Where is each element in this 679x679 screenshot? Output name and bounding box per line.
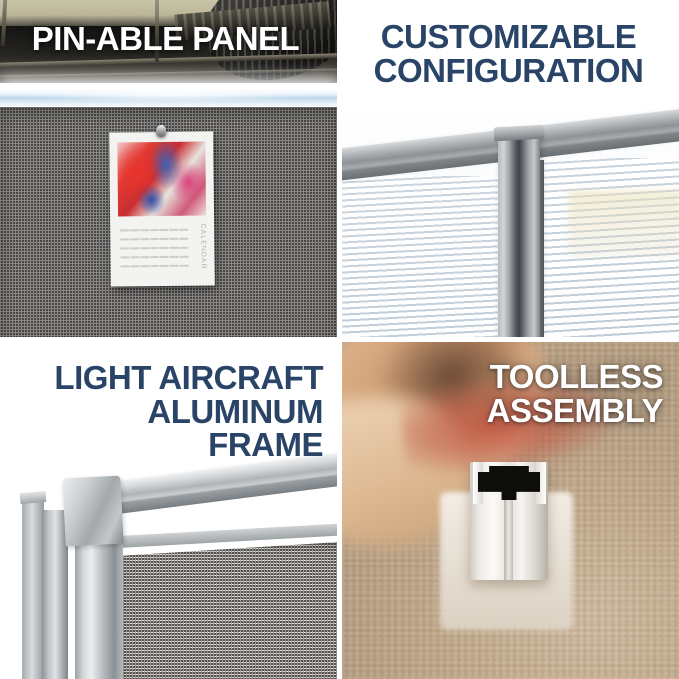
window-reflection [568, 190, 679, 258]
panel-light-aircraft-aluminum-frame: LIGHT AIRCRAFT ALUMINUM FRAME [0, 342, 337, 679]
post-cap [20, 491, 47, 504]
grey-fabric-panel [120, 542, 337, 679]
back-post [22, 498, 44, 679]
extrusion-web [504, 500, 513, 580]
vertical-connector-post [498, 132, 540, 337]
panel-heading-pin-able-panel: PIN-ABLE PANEL [0, 22, 331, 56]
feature-infographic: CALENDAR PIN-ABLE PANEL CUSTOMIZABLE CON… [0, 0, 679, 679]
fabric-tack-board: CALENDAR [0, 107, 337, 337]
middle-post [42, 510, 68, 679]
light-glow [20, 88, 317, 102]
main-post [75, 534, 123, 679]
panel-heading-light-aircraft-aluminum-frame: LIGHT AIRCRAFT ALUMINUM FRAME [10, 361, 323, 462]
calendar-artwork [117, 142, 206, 217]
post-cap [494, 125, 545, 142]
calendar-month-label: CALENDAR [194, 224, 207, 280]
panel-heading-toolless-assembly: TOOLLESS ASSEMBLY [362, 360, 663, 427]
panel-toolless-assembly: TOOLLESS ASSEMBLY [342, 342, 679, 679]
panel-customizable-configuration: CUSTOMIZABLE CONFIGURATION [342, 0, 679, 337]
calendar-date-grid [120, 226, 188, 275]
push-pin-icon [156, 125, 166, 137]
panel-pin-able-panel: CALENDAR PIN-ABLE PANEL [0, 0, 337, 337]
pinned-calendar: CALENDAR [109, 131, 215, 286]
horizontal-divider [0, 337, 679, 342]
aluminum-corner-block [62, 476, 123, 547]
panel-heading-customizable-configuration: CUSTOMIZABLE CONFIGURATION [352, 20, 665, 87]
left-glazed-panel [342, 176, 508, 337]
